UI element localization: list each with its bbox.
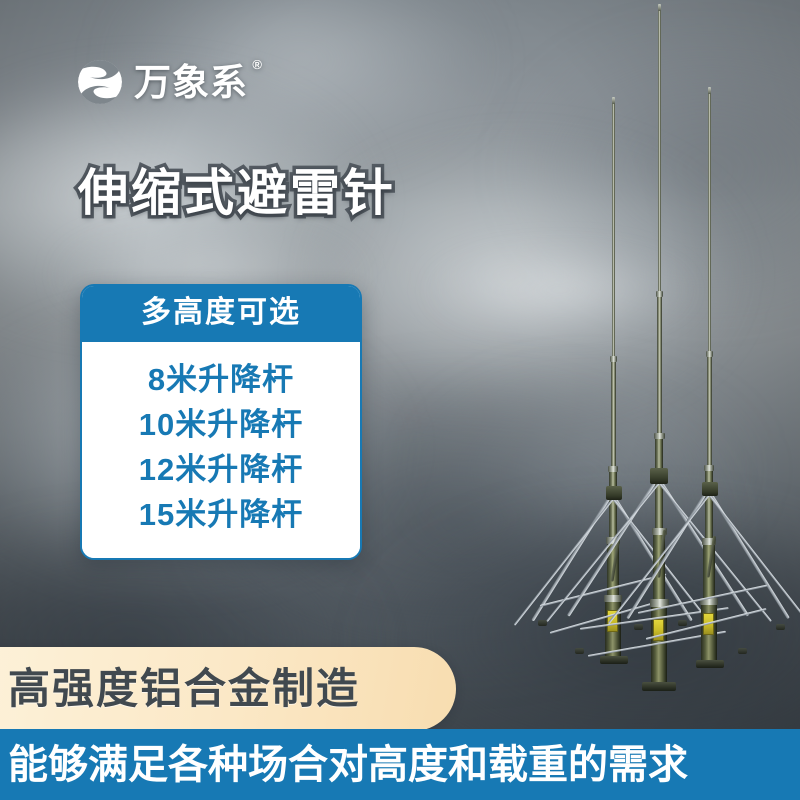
center-mast-collar-2 [654, 433, 665, 439]
height-option-15m[interactable]: 15米升降杆 [82, 493, 360, 538]
material-banner-text: 高强度铝合金制造 [8, 668, 360, 710]
left-mast-tip-icon [612, 97, 615, 104]
height-card-header-label: 多高度可选 [82, 296, 360, 329]
brand-name-text: 万象系 [134, 62, 248, 103]
page-title: 伸缩式避雷针 [78, 168, 396, 218]
left-mast-collar-2 [608, 466, 618, 472]
center-mast-collar-1 [656, 291, 663, 297]
height-option-8m[interactable]: 8米升降杆 [82, 358, 360, 403]
height-card-header: 多高度可选 [82, 286, 360, 342]
center-mast-hub [650, 468, 668, 484]
left-mast-collar-1 [610, 356, 617, 362]
product-banner: 万象系® 伸缩式避雷针 多高度可选 8米升降杆 10米升降杆 12米升降杆 15… [0, 0, 800, 800]
left-tripod-foot-b [678, 620, 687, 626]
registered-trademark-icon: ® [252, 58, 263, 71]
right-mast-collar-1 [706, 351, 713, 357]
height-card-body: 8米升降杆 10米升降杆 12米升降杆 15米升降杆 [82, 342, 360, 558]
right-mast-base-plate [696, 660, 724, 668]
right-mast [700, 90, 720, 665]
product-image-telescopic-lightning-rods [420, 0, 800, 720]
center-tripod-foot-a [575, 648, 584, 654]
left-mast-collar-4 [604, 595, 622, 602]
material-banner: 高强度铝合金制造 [0, 647, 456, 731]
brand-logo: 万象系® [76, 58, 248, 106]
right-mast-tip-icon [708, 87, 711, 94]
center-mast-tip-icon [658, 4, 661, 11]
brand-name: 万象系® [134, 64, 248, 101]
height-option-12m[interactable]: 12米升降杆 [82, 448, 360, 493]
height-option-10m[interactable]: 10米升降杆 [82, 403, 360, 448]
left-guy-wire-b [514, 498, 614, 625]
right-tripod-foot-b [776, 624, 785, 630]
right-mast-hub [702, 482, 718, 496]
center-mast-base-plate [642, 682, 676, 691]
left-mast-base-plate [600, 656, 628, 664]
brand-swoosh-circle-icon [76, 58, 124, 106]
right-tripod-foot-a [634, 624, 643, 630]
center-tripod-foot-b [738, 648, 747, 654]
need-banner: 能够满足各种场合对高度和载重的需求 [0, 729, 800, 800]
center-mast [649, 7, 671, 685]
right-mast-collar-2 [704, 465, 714, 471]
left-mast-hub [606, 486, 622, 500]
need-banner-text: 能够满足各种场合对高度和载重的需求 [8, 745, 688, 785]
height-options-card: 多高度可选 8米升降杆 10米升降杆 12米升降杆 15米升降杆 [80, 284, 362, 560]
